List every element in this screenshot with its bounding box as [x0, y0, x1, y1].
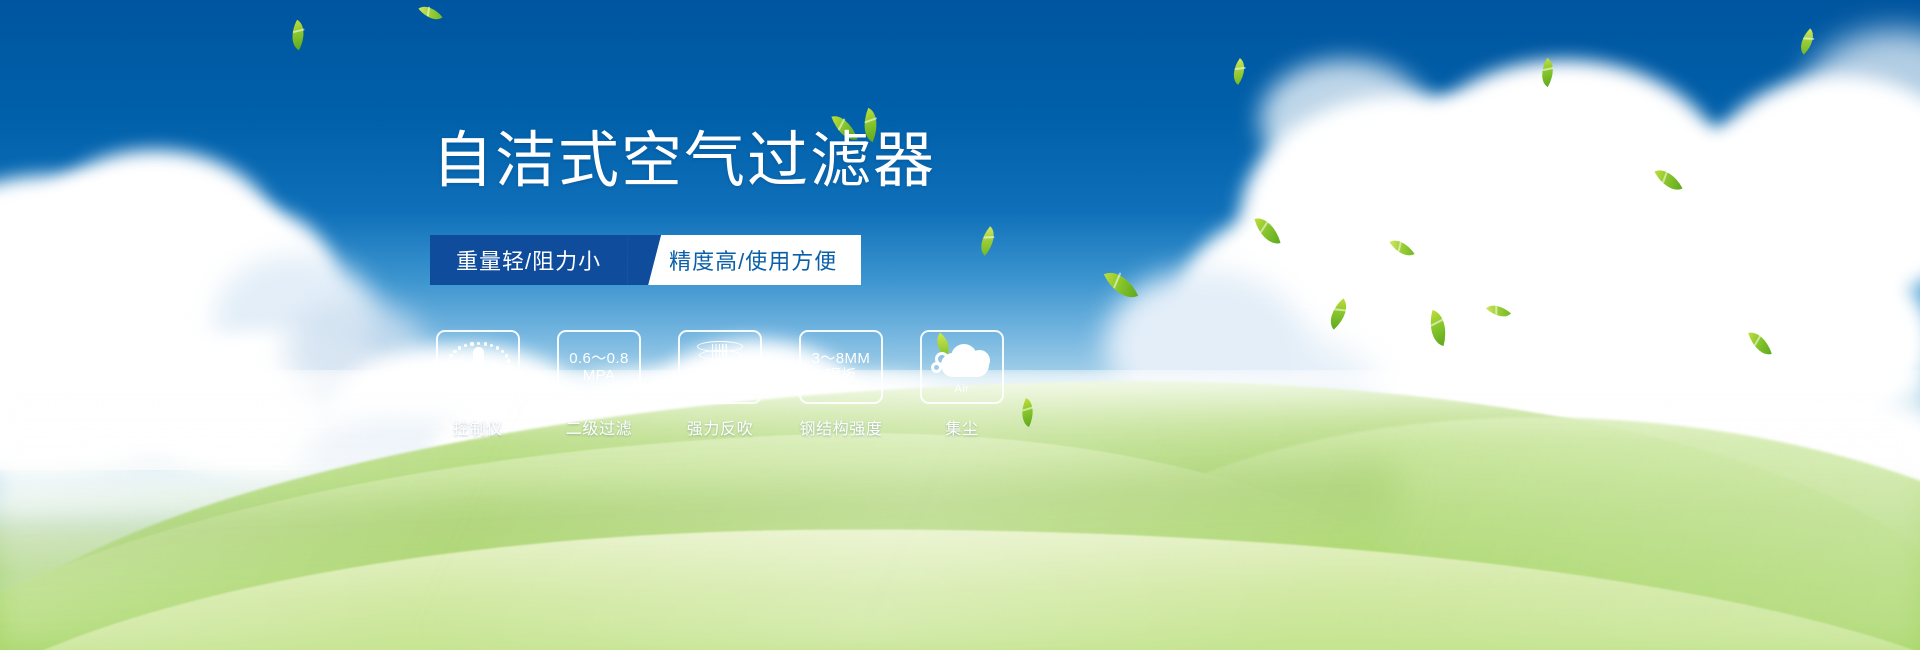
feature-item[interactable]: 3～8MM 钢板 钢结构强度: [800, 330, 882, 439]
cloud-bump: [969, 350, 990, 371]
tagline-left: 重量轻/阻力小: [430, 235, 627, 285]
feature-icon-box: 3～8MM 钢板: [799, 330, 883, 404]
gauge-off-label: OFF: [497, 388, 510, 394]
feature-list: NO OFF 控制仪 0.6～0.8 MPA 二级过滤: [437, 330, 1003, 439]
steel-text-icon: 3～8MM 钢板: [812, 350, 871, 385]
pressure-unit: MPA: [583, 367, 616, 384]
tagline-right: 精度高/使用方便: [661, 235, 861, 285]
steel-material: 钢板: [826, 367, 857, 384]
gauge-icon: NO OFF: [447, 338, 509, 396]
feature-label: 钢结构强度: [800, 415, 883, 439]
feature-icon-box: 0.6～0.8 MPA: [557, 330, 641, 404]
dust-particle: [931, 362, 942, 373]
feature-label: 控制仪: [453, 415, 503, 439]
feature-icon-box: [678, 330, 762, 404]
promo-banner: 自洁式空气过滤器 重量轻/阻力小 精度高/使用方便: [0, 0, 1920, 650]
pressure-value: 0.6～0.8: [569, 350, 629, 367]
feature-label: 集尘: [945, 415, 978, 439]
gauge-on-label: NO: [446, 371, 456, 377]
feature-label: 二级过滤: [566, 415, 632, 439]
feature-item[interactable]: NO OFF 控制仪: [437, 330, 519, 439]
banner-content: 自洁式空气过滤器 重量轻/阻力小 精度高/使用方便: [0, 0, 1920, 650]
feature-label: 强力反吹: [687, 415, 753, 439]
page-title: 自洁式空气过滤器: [432, 130, 936, 191]
coil-filter-icon: [696, 339, 744, 395]
pressure-text-icon: 0.6～0.8 MPA: [569, 350, 629, 385]
feature-item[interactable]: 强力反吹: [679, 330, 761, 439]
feature-item[interactable]: Air 集尘: [921, 330, 1003, 439]
air-cloud-icon: Air: [931, 341, 993, 393]
air-label: Air: [931, 383, 993, 395]
feature-item[interactable]: 0.6～0.8 MPA 二级过滤: [558, 330, 640, 439]
steel-thickness: 3～8MM: [812, 350, 871, 367]
feature-icon-box: Air: [920, 330, 1004, 404]
tagline-bar: 重量轻/阻力小 精度高/使用方便: [430, 235, 861, 285]
gauge-needle: [473, 347, 484, 387]
feature-icon-box: NO OFF: [436, 330, 520, 404]
